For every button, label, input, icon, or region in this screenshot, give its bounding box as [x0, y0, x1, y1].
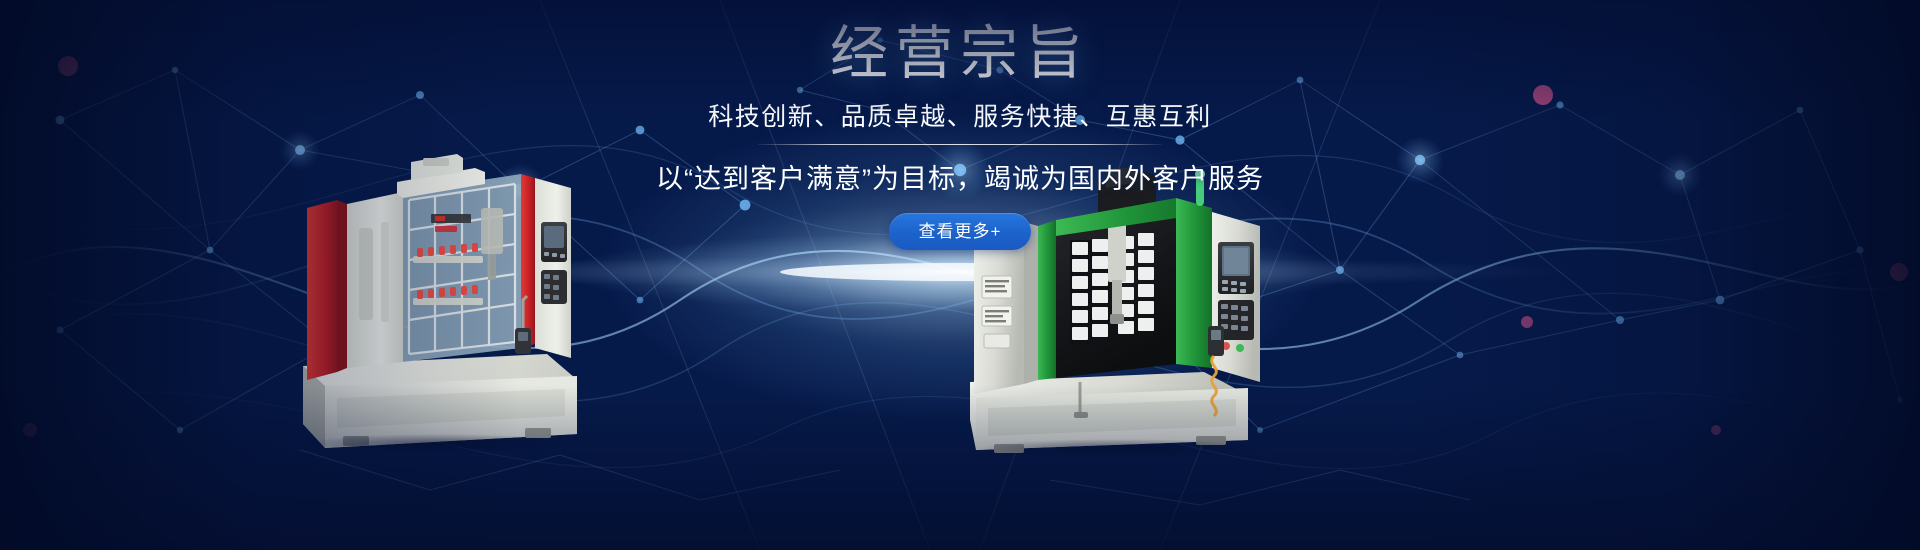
banner-content: 经营宗旨 科技创新、品质卓越、服务快捷、互惠互利 以“达到客户满意”为目标，竭诚…: [0, 0, 1920, 550]
promo-banner: 经营宗旨 科技创新、品质卓越、服务快捷、互惠互利 以“达到客户满意”为目标，竭诚…: [0, 0, 1920, 550]
banner-tagline: 以“达到客户满意”为目标，竭诚为国内外客户服务: [656, 157, 1264, 196]
banner-subtitle: 科技创新、品质卓越、服务快捷、互惠互利: [708, 97, 1212, 133]
page-title: 经营宗旨: [830, 22, 1090, 87]
text-divider: [758, 144, 1162, 145]
view-more-button[interactable]: 查看更多+: [889, 213, 1032, 250]
